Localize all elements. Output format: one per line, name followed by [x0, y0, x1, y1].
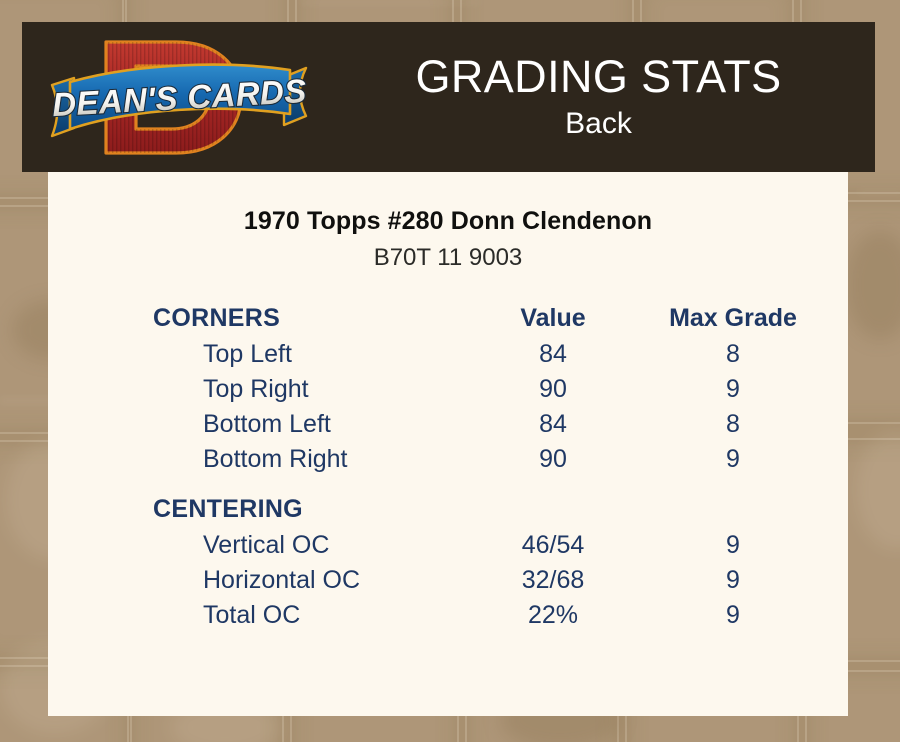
- row-grade: 9: [638, 375, 828, 404]
- row-value: 90: [473, 445, 633, 474]
- row-label: Total OC: [203, 601, 300, 630]
- row-label: Bottom Left: [203, 410, 331, 439]
- row-label: Top Left: [203, 340, 292, 369]
- section-header-row: CENTERING: [48, 495, 848, 531]
- row-value: 84: [473, 410, 633, 439]
- deans-cards-logo[interactable]: DEAN'S CARDS: [44, 30, 314, 165]
- table-row: Horizontal OC 32/68 9: [48, 566, 848, 601]
- row-grade: 8: [638, 340, 828, 369]
- table-row: Top Right 90 9: [48, 375, 848, 410]
- card-title: 1970 Topps #280 Donn Clendenon: [48, 207, 848, 236]
- row-value: 32/68: [473, 566, 633, 595]
- logo-svg: DEAN'S CARDS: [44, 30, 314, 165]
- row-grade: 9: [638, 566, 828, 595]
- content-panel: 1970 Topps #280 Donn Clendenon B70T 11 9…: [48, 172, 848, 716]
- row-value: 90: [473, 375, 633, 404]
- card-serial: B70T 11 9003: [48, 244, 848, 272]
- table-row: Bottom Right 90 9: [48, 445, 848, 480]
- section-title-corners: CORNERS: [153, 304, 280, 333]
- table-row: Vertical OC 46/54 9: [48, 531, 848, 566]
- page-subtitle: Back: [565, 105, 632, 143]
- table-row: Top Left 84 8: [48, 340, 848, 375]
- row-label: Vertical OC: [203, 531, 329, 560]
- column-header-value: Value: [473, 304, 633, 333]
- row-grade: 9: [638, 601, 828, 630]
- background-streak: [858, 190, 900, 194]
- section-title-centering: CENTERING: [153, 495, 303, 524]
- stats-section-centering: CENTERING Vertical OC 46/54 9 Horizontal…: [48, 495, 848, 636]
- column-header-max-grade: Max Grade: [638, 304, 828, 333]
- row-value: 84: [473, 340, 633, 369]
- row-label: Horizontal OC: [203, 566, 360, 595]
- table-row: Bottom Left 84 8: [48, 410, 848, 445]
- row-grade: 9: [638, 445, 828, 474]
- row-value: 22%: [473, 601, 633, 630]
- header-bar: DEAN'S CARDS GRADING STATS Back: [22, 22, 875, 172]
- table-row: Total OC 22% 9: [48, 601, 848, 636]
- row-grade: 9: [638, 531, 828, 560]
- section-header-row: CORNERS Value Max Grade: [48, 304, 848, 340]
- header-title-block: GRADING STATS Back: [322, 22, 875, 172]
- background-streak: [300, 0, 480, 4]
- section-spacer: [48, 480, 848, 495]
- row-value: 46/54: [473, 531, 633, 560]
- row-grade: 8: [638, 410, 828, 439]
- row-label: Bottom Right: [203, 445, 348, 474]
- grading-stats-table: CORNERS Value Max Grade Top Left 84 8 To…: [48, 304, 848, 636]
- page-title: GRADING STATS: [415, 51, 781, 103]
- row-label: Top Right: [203, 375, 309, 404]
- stats-section-corners: CORNERS Value Max Grade Top Left 84 8 To…: [48, 304, 848, 480]
